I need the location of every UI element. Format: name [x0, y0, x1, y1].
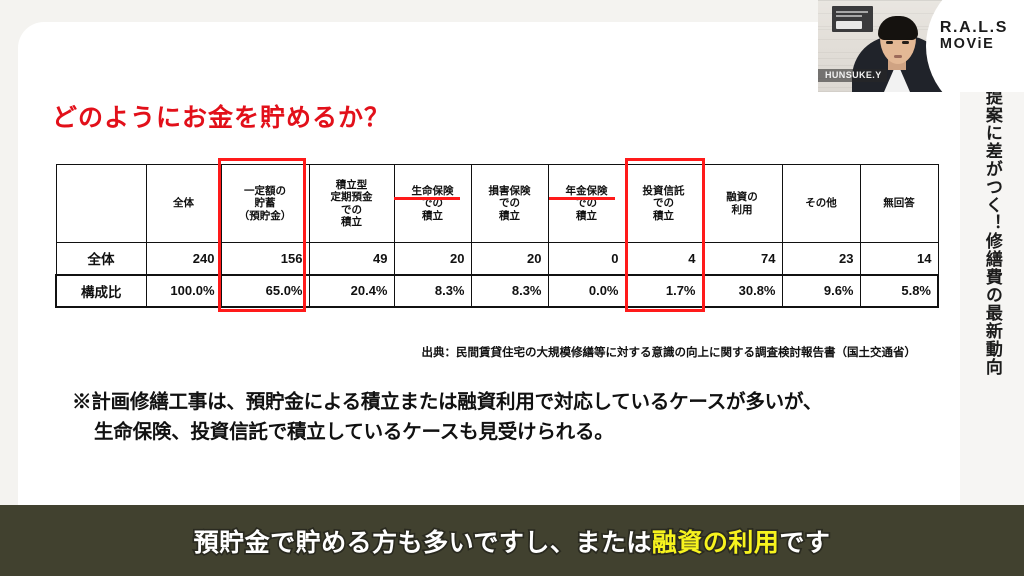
table-cell: 5.8%	[860, 275, 938, 307]
caption-part2: です	[779, 529, 830, 557]
survey-table: 全体 一定額の貯蓄（預貯金） 積立型定期預金での積立 生命保険での積立 損害保険…	[55, 164, 939, 308]
row-label: 全体	[56, 243, 146, 275]
table-header-cell-sonota: その他	[782, 165, 860, 243]
table-header-cell-tsumitate-teiki: 積立型定期預金での積立	[309, 165, 394, 243]
page-title: どのようにお金を貯めるか？	[52, 98, 390, 134]
webcam-region[interactable]: HUNSUKE.Y R.A.L.S MOViE	[818, 0, 1024, 92]
brand-logo: R.A.L.S MOViE	[940, 20, 1008, 52]
summary-note-line1: ※計画修繕工事は、預貯金による積立または融資利用で対応しているケースが多いが、	[72, 391, 822, 413]
table-cell: 65.0%	[221, 275, 309, 307]
table-cell: 9.6%	[782, 275, 860, 307]
table-header-cell-ichiteigaku: 一定額の貯蓄（預貯金）	[221, 165, 309, 243]
table-cell: 20.4%	[309, 275, 394, 307]
speaker-eye-right	[902, 41, 909, 44]
slide-card: どのようにお金を貯めるか？	[18, 22, 1024, 505]
table-header-cell-songai-hoken: 損害保険での積立	[471, 165, 548, 243]
table-cell: 20	[394, 243, 471, 275]
summary-note: ※計画修繕工事は、預貯金による積立または融資利用で対応しているケースが多いが、 …	[72, 388, 822, 447]
sidebar-vertical-title: 提案に差がつく！修繕費の最新動向	[960, 88, 1024, 418]
slide-stage: どのようにお金を貯めるか？	[0, 0, 1024, 576]
speaker-hair	[878, 16, 918, 40]
table-row: 全体 240 156 49 20 20 0 4 74 23 14	[56, 243, 938, 275]
table-corner-cell	[56, 165, 146, 243]
table-cell: 49	[309, 243, 394, 275]
table-cell: 4	[625, 243, 702, 275]
source-citation: 出典：民間賃貸住宅の大規模修繕等に対する意識の向上に関する調査検討報告書（国土交…	[18, 344, 1024, 360]
caption-band: 預貯金で貯める方も多いですし、または融資の利用です	[0, 505, 1024, 576]
table-cell: 8.3%	[471, 275, 548, 307]
row-label: 構成比	[56, 275, 146, 307]
table-cell: 156	[221, 243, 309, 275]
caption-part1: 預貯金で貯める方も多いですし、または	[194, 529, 652, 557]
summary-note-line2: 生命保険、投資信託で積立しているケースも見受けられる。	[72, 418, 822, 448]
table-cell: 0.0%	[548, 275, 625, 307]
table-header-cell-seimei-hoken: 生命保険での積立	[394, 165, 471, 243]
table-row: 構成比 100.0% 65.0% 20.4% 8.3% 8.3% 0.0% 1.…	[56, 275, 938, 307]
table-header-row: 全体 一定額の貯蓄（預貯金） 積立型定期預金での積立 生命保険での積立 損害保険…	[56, 165, 938, 243]
table-cell: 240	[146, 243, 221, 275]
table-header-cell-nenkin-hoken: 年金保険での積立	[548, 165, 625, 243]
table-cell: 100.0%	[146, 275, 221, 307]
wall-nameplate	[832, 6, 873, 32]
brand-logo-line1: R.A.L.S	[940, 20, 1008, 37]
table-header-cell-yushi-riyo: 融資の利用	[702, 165, 782, 243]
table-cell: 8.3%	[394, 275, 471, 307]
speaker-eye-left	[886, 41, 893, 44]
speaker-mouth	[894, 55, 902, 58]
brand-logo-line2: MOViE	[940, 37, 1008, 52]
table-cell: 30.8%	[702, 275, 782, 307]
table-cell: 1.7%	[625, 275, 702, 307]
table-cell: 0	[548, 243, 625, 275]
speaker-name-label: HUNSUKE.Y	[818, 69, 887, 82]
table-cell: 74	[702, 243, 782, 275]
table-header-cell-toshi-shintaku: 投資信託での積立	[625, 165, 702, 243]
table-cell: 14	[860, 243, 938, 275]
table-header-cell-mukaito: 無回答	[860, 165, 938, 243]
caption-text: 預貯金で貯める方も多いですし、または融資の利用です	[0, 523, 1024, 559]
table-cell: 23	[782, 243, 860, 275]
survey-table-container: 全体 一定額の貯蓄（預貯金） 積立型定期預金での積立 生命保険での積立 損害保険…	[55, 164, 937, 308]
table-cell: 20	[471, 243, 548, 275]
caption-highlight: 融資の利用	[652, 529, 780, 557]
table-header-cell-zentai: 全体	[146, 165, 221, 243]
